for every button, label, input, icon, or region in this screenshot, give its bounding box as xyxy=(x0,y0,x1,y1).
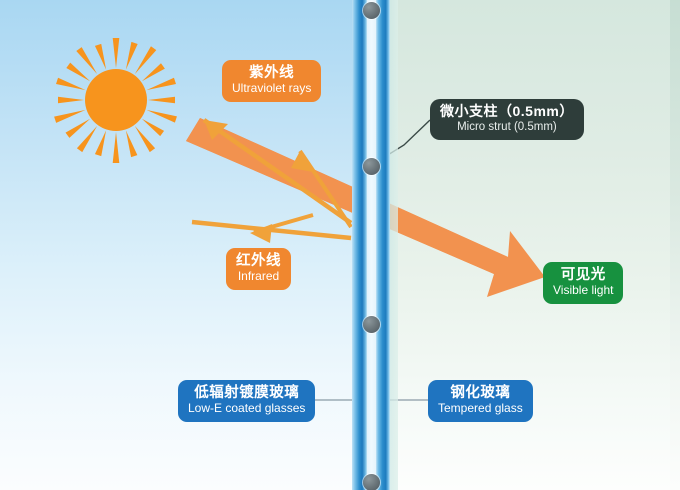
label-tempered-cn: 钢化玻璃 xyxy=(438,385,523,401)
label-micro-strut: 微小支柱（0.5mm） Micro strut (0.5mm) xyxy=(430,99,584,140)
label-infrared-en: Infrared xyxy=(236,270,281,283)
label-ultraviolet-en: Ultraviolet rays xyxy=(232,82,311,95)
label-infrared: 红外线 Infrared xyxy=(226,248,291,290)
label-visible-light: 可见光 Visible light xyxy=(543,262,623,304)
strut-dot-icon xyxy=(363,2,380,19)
strut-dot-icon xyxy=(363,474,380,490)
label-visible-light-cn: 可见光 xyxy=(553,267,613,283)
label-ultraviolet-cn: 紫外线 xyxy=(232,65,311,81)
uv-reflection-arrow-icon xyxy=(204,120,351,223)
label-infrared-cn: 红外线 xyxy=(236,253,281,269)
pane-outer-haze xyxy=(390,0,398,490)
label-low-e-coated-glass: 低辐射镀膜玻璃 Low-E coated glasses xyxy=(178,380,315,422)
label-micro-strut-cn: 微小支柱（0.5mm） xyxy=(440,104,574,120)
diagram-canvas: 紫外线 Ultraviolet rays 红外线 Infrared 可见光 Vi… xyxy=(0,0,680,490)
insulated-glass-unit xyxy=(344,0,398,490)
label-visible-light-en: Visible light xyxy=(553,284,613,297)
light-ray-arrows xyxy=(0,0,680,490)
label-micro-strut-en: Micro strut (0.5mm) xyxy=(440,121,574,134)
strut-dot-icon xyxy=(363,316,380,333)
label-low-e-en: Low-E coated glasses xyxy=(188,402,305,415)
pane-low-e-coated-glass xyxy=(352,0,367,490)
label-tempered-en: Tempered glass xyxy=(438,402,523,415)
strut-dot-icon xyxy=(363,158,380,175)
label-low-e-cn: 低辐射镀膜玻璃 xyxy=(188,385,305,401)
pane-tempered-glass xyxy=(376,0,390,490)
label-tempered-glass: 钢化玻璃 Tempered glass xyxy=(428,380,533,422)
pane-air-gap xyxy=(367,0,376,490)
label-ultraviolet: 紫外线 Ultraviolet rays xyxy=(222,60,321,102)
